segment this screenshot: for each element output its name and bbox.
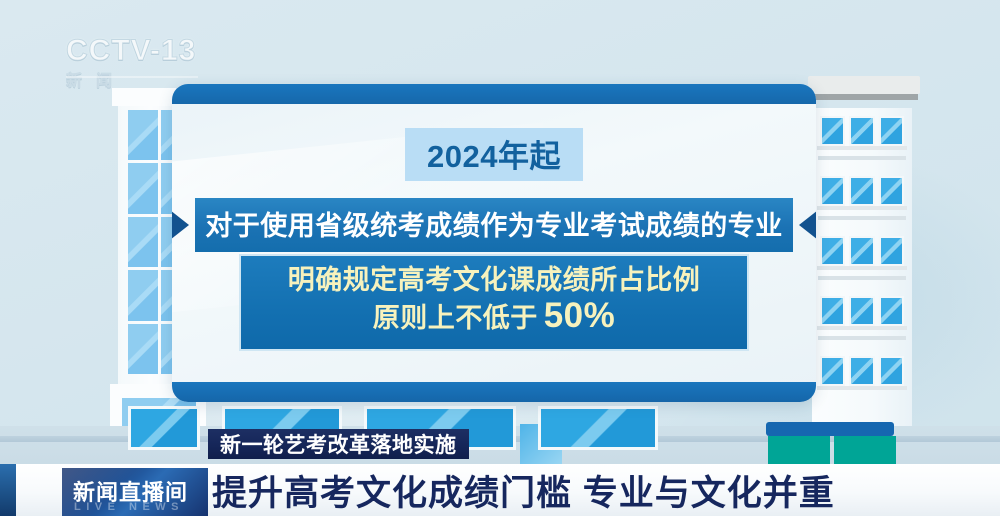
arrow-left-icon [799,210,816,240]
rule-percent-value: 50% [544,296,616,337]
right-building-floor [820,356,904,386]
logo-wordmark: CCTV-13 [66,36,198,66]
program-badge-en: LIVE NEWS [74,501,184,513]
right-building-band [818,336,906,340]
program-badge: 新闻直播间 LIVE NEWS [62,468,208,516]
logo-divider [66,76,198,78]
scope-banner: 对于使用省级统考成绩作为专业考试成绩的专业 [195,198,793,252]
right-building-band [818,156,906,160]
card-bottom-bar [172,382,816,402]
right-building-floor [820,116,904,146]
rule-block: 明确规定高考文化课成绩所占比例 原则上不低于 50% [239,254,749,351]
scope-banner-text: 对于使用省级统考成绩作为专业考试成绩的专业 [205,211,783,241]
rule-line-2-prefix: 原则上不低于 [373,303,538,334]
headline-text: 提升高考文化成绩门槛 专业与文化并重 [212,465,835,516]
subtitle-bar: 新一轮艺考改革落地实施 [208,429,469,459]
info-card: 2024年起 对于使用省级统考成绩作为专业考试成绩的专业 明确规定高考文化课成绩… [172,84,816,402]
subtitle-text: 新一轮艺考改革落地实施 [220,429,457,459]
card-top-bar [172,84,816,104]
card-content: 2024年起 对于使用省级统考成绩作为专业考试成绩的专业 明确规定高考文化课成绩… [172,104,816,382]
arrow-right-icon [172,210,189,240]
teal-awning [766,422,894,436]
right-building-roof-shadow [810,94,918,100]
scope-banner-row: 对于使用省级统考成绩作为专业考试成绩的专业 [172,198,816,252]
right-building-band [818,276,906,280]
right-building-floor [820,296,904,326]
right-building [812,108,912,428]
year-label: 2024年起 [427,139,561,174]
right-building-floor [820,236,904,266]
right-building-floor [820,176,904,206]
right-building-band [818,216,906,220]
rule-line-2: 原则上不低于 50% [255,296,733,337]
right-building-roof [808,76,920,94]
headline-left-edge [0,464,16,516]
rule-line-1: 明确规定高考文化课成绩所占比例 [255,265,733,296]
year-highlight: 2024年起 [405,128,583,181]
